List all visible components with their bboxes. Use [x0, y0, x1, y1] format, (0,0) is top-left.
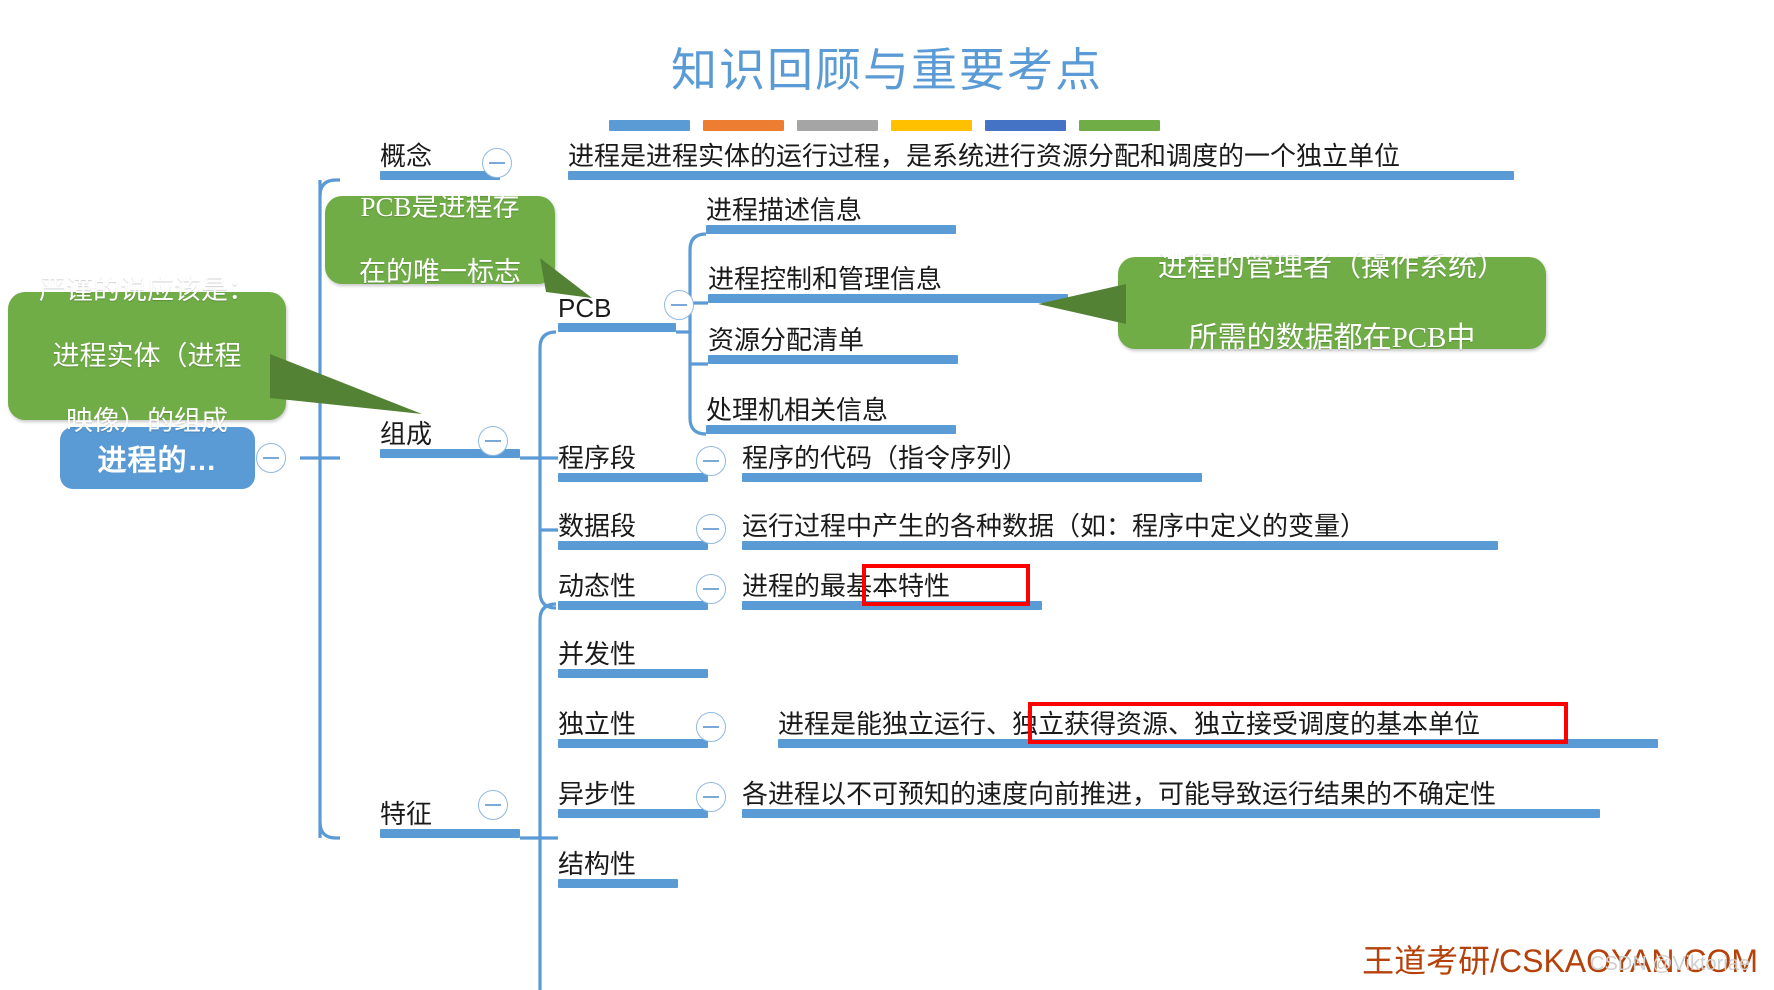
- callout-composition-note-tail: [270, 350, 430, 422]
- collapse-toggle-icon-composition[interactable]: [478, 426, 508, 456]
- collapse-toggle-icon-dynamic[interactable]: [696, 574, 726, 604]
- title-color-ribbon: [609, 120, 1160, 131]
- node-pcb-child-2-label: 进程控制和管理信息: [708, 265, 942, 294]
- callout-composition-note-line-3: 映像）的组成: [29, 405, 265, 438]
- callout-manager-note-line-1: 进程的管理者（操作系统）: [1148, 250, 1516, 285]
- highlight-box-dynamic: [862, 564, 1030, 606]
- mindmap-canvas: 知识回顾与重要考点: [0, 0, 1774, 990]
- collapse-toggle-icon-pcb[interactable]: [664, 290, 694, 320]
- node-structural-label: 结构性: [558, 850, 636, 879]
- callout-composition-note-line-1: 严谨的说应该是：: [29, 274, 265, 307]
- callout-pcb-note-tail: [540, 258, 600, 314]
- collapse-toggle-icon-independent[interactable]: [696, 712, 726, 742]
- node-dynamic-label: 动态性: [558, 572, 636, 601]
- collapse-toggle-icon-concept[interactable]: [482, 148, 512, 178]
- node-concurrent-label: 并发性: [558, 640, 636, 669]
- node-dynamic[interactable]: 动态性: [558, 562, 708, 610]
- callout-composition-note: 严谨的说应该是： 进程实体（进程 映像）的组成: [8, 292, 286, 420]
- callout-manager-note-tail: [1038, 282, 1130, 332]
- node-program-segment-detail-label: 程序的代码（指令序列）: [742, 444, 1028, 473]
- node-asynchronous-detail[interactable]: 各进程以不可预知的速度向前推进，可能导致运行结果的不确定性: [742, 770, 1600, 818]
- page-title: 知识回顾与重要考点: [0, 34, 1774, 100]
- node-pcb-child-4[interactable]: 处理机相关信息: [706, 386, 956, 434]
- node-concept-label: 概念: [380, 142, 432, 171]
- collapse-toggle-icon-data-segment[interactable]: [696, 514, 726, 544]
- ribbon-segment-6: [1079, 120, 1160, 131]
- node-composition-label: 组成: [380, 420, 432, 449]
- watermark-secondary: CSDN @Viktoriae: [1590, 953, 1750, 976]
- ribbon-segment-5: [985, 120, 1066, 131]
- node-features-label: 特征: [380, 800, 432, 829]
- collapse-toggle-icon-root[interactable]: [256, 443, 286, 473]
- node-concurrent[interactable]: 并发性: [558, 630, 708, 678]
- node-independent-label: 独立性: [558, 710, 636, 739]
- node-pcb-child-3-label: 资源分配清单: [708, 326, 864, 355]
- node-data-segment[interactable]: 数据段: [558, 502, 708, 550]
- node-data-segment-detail-label: 运行过程中产生的各种数据（如：程序中定义的变量）: [742, 512, 1366, 541]
- node-program-segment-detail[interactable]: 程序的代码（指令序列）: [742, 434, 1202, 482]
- callout-pcb-note-line-2: 在的唯一标志: [349, 256, 531, 289]
- node-independent-detail-plain: 进程是能独立运行、: [778, 709, 1012, 739]
- highlight-box-independent: [1028, 702, 1568, 744]
- callout-pcb-note-line-1: PCB是进程存: [349, 191, 531, 224]
- node-data-segment-detail[interactable]: 运行过程中产生的各种数据（如：程序中定义的变量）: [742, 502, 1498, 550]
- node-independent[interactable]: 独立性: [558, 700, 708, 748]
- callout-manager-note: 进程的管理者（操作系统） 所需的数据都在PCB中: [1118, 257, 1546, 349]
- node-asynchronous-detail-label: 各进程以不可预知的速度向前推进，可能导致运行结果的不确定性: [742, 780, 1496, 809]
- node-pcb-child-1[interactable]: 进程描述信息: [706, 186, 956, 234]
- node-pcb-child-1-label: 进程描述信息: [706, 196, 862, 225]
- node-pcb-child-2[interactable]: 进程控制和管理信息: [708, 255, 1068, 303]
- collapse-toggle-icon-asynchronous[interactable]: [696, 782, 726, 812]
- ribbon-segment-1: [609, 120, 690, 131]
- collapse-toggle-icon-program-segment[interactable]: [696, 446, 726, 476]
- callout-manager-note-line-2: 所需的数据都在PCB中: [1148, 321, 1516, 356]
- ribbon-segment-3: [797, 120, 878, 131]
- node-pcb-child-3[interactable]: 资源分配清单: [708, 316, 958, 364]
- ribbon-segment-4: [891, 120, 972, 131]
- node-concept-detail-label: 进程是进程实体的运行过程，是系统进行资源分配和调度的一个独立单位: [568, 142, 1400, 171]
- node-asynchronous-label: 异步性: [558, 780, 636, 809]
- node-pcb-child-4-label: 处理机相关信息: [706, 396, 888, 425]
- root-node-label: 进程的…: [97, 437, 217, 479]
- callout-pcb-note: PCB是进程存 在的唯一标志: [325, 196, 555, 284]
- node-concept-detail[interactable]: 进程是进程实体的运行过程，是系统进行资源分配和调度的一个独立单位: [568, 132, 1514, 180]
- node-program-segment-label: 程序段: [558, 444, 636, 473]
- node-asynchronous[interactable]: 异步性: [558, 770, 708, 818]
- collapse-toggle-icon-features[interactable]: [478, 790, 508, 820]
- node-concept[interactable]: 概念: [380, 132, 500, 180]
- node-dynamic-detail-plain: 进程的: [742, 571, 820, 601]
- callout-composition-note-line-2: 进程实体（进程: [29, 340, 265, 373]
- node-structural[interactable]: 结构性: [558, 840, 678, 888]
- node-program-segment[interactable]: 程序段: [558, 434, 708, 482]
- node-data-segment-label: 数据段: [558, 512, 636, 541]
- ribbon-segment-2: [703, 120, 784, 131]
